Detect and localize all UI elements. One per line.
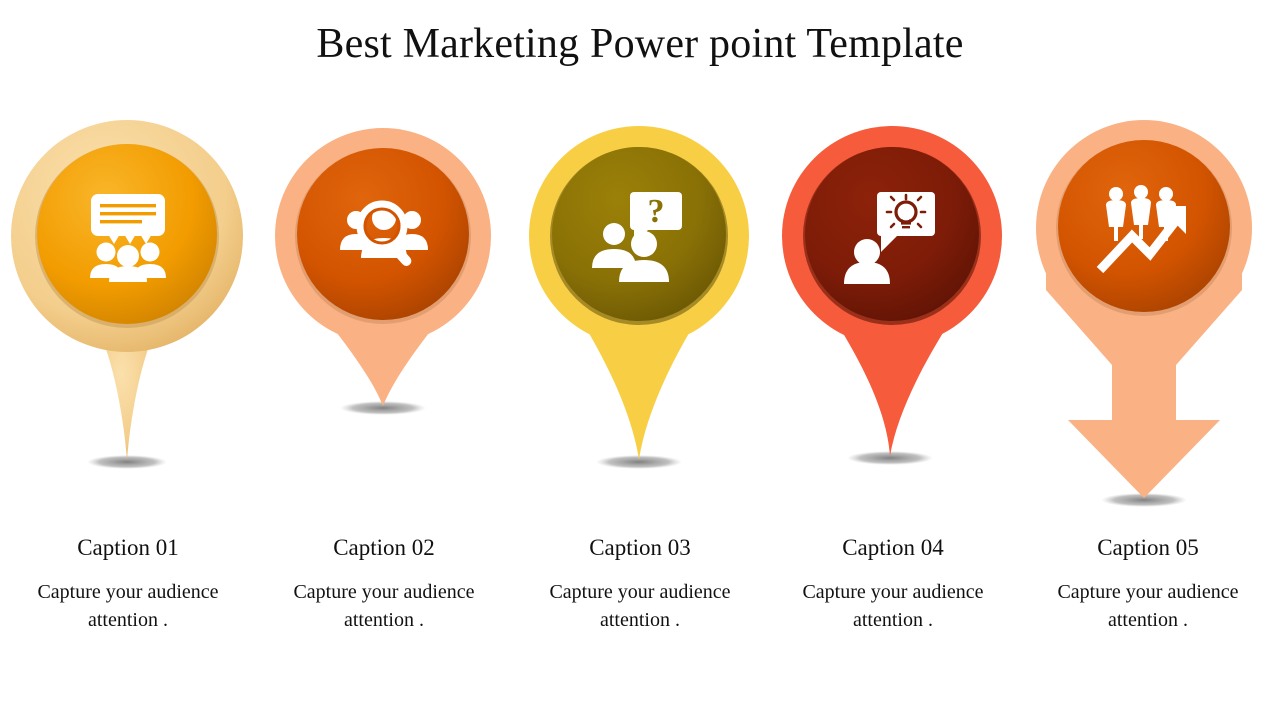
- caption-title: Caption 02: [256, 535, 512, 561]
- caption-block-3: Caption 03 Capture your audience attenti…: [512, 535, 768, 635]
- pin-shape-5-down-arrow: [1024, 110, 1280, 530]
- slide-canvas: Best Marketing Power point Template: [0, 0, 1280, 720]
- pin-item-4[interactable]: [768, 110, 1024, 530]
- pin-shape-1: [0, 110, 256, 530]
- caption-body: Capture your audience attention .: [28, 578, 228, 635]
- pin-row: ?: [0, 110, 1280, 530]
- caption-block-2: Caption 02 Capture your audience attenti…: [256, 535, 512, 635]
- pin-shape-2: [256, 110, 512, 530]
- caption-title: Caption 01: [0, 535, 256, 561]
- pin-item-2[interactable]: [256, 110, 512, 530]
- pin-shape-3: [512, 110, 768, 530]
- caption-block-4: Caption 04 Capture your audience attenti…: [765, 535, 1021, 635]
- pin-item-5[interactable]: [1024, 110, 1280, 530]
- caption-title: Caption 05: [1020, 535, 1276, 561]
- pin-shape-4: [768, 110, 1024, 530]
- caption-body: Capture your audience attention .: [793, 578, 993, 635]
- caption-body: Capture your audience attention .: [284, 578, 484, 635]
- caption-block-1: Caption 01 Capture your audience attenti…: [0, 535, 256, 635]
- caption-body: Capture your audience attention .: [540, 578, 740, 635]
- caption-body: Capture your audience attention .: [1048, 578, 1248, 635]
- caption-block-5: Caption 05 Capture your audience attenti…: [1020, 535, 1276, 635]
- caption-row: Caption 01 Capture your audience attenti…: [0, 535, 1280, 665]
- page-title: Best Marketing Power point Template: [0, 20, 1280, 68]
- caption-title: Caption 04: [765, 535, 1021, 561]
- pin-item-3[interactable]: ?: [512, 110, 768, 530]
- caption-title: Caption 03: [512, 535, 768, 561]
- pin-item-1[interactable]: [0, 110, 256, 530]
